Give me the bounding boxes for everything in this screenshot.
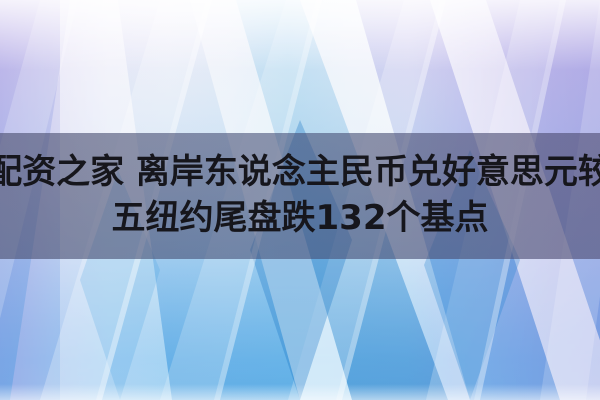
headline-line-1: 炒股配资之家 离岸东说念主民币兑好意思元较上周 [0, 151, 600, 195]
article-thumbnail: 炒股配资之家 离岸东说念主民币兑好意思元较上周 五纽约尾盘跌132个基点 [0, 0, 600, 400]
headline-block: 炒股配资之家 离岸东说念主民币兑好意思元较上周 五纽约尾盘跌132个基点 [0, 133, 600, 259]
headline-line-2: 五纽约尾盘跌132个基点 [112, 197, 489, 241]
